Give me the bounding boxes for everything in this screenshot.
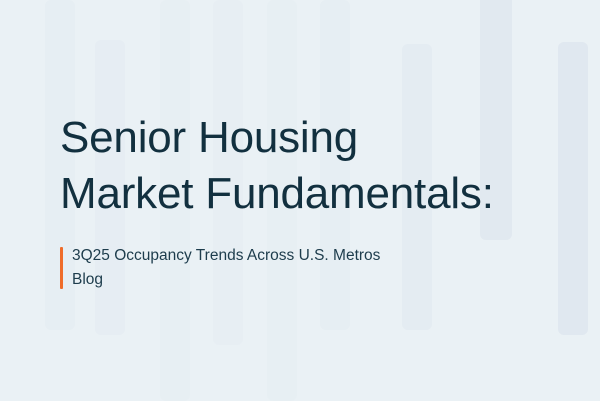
hero-banner: Senior Housing Market Fundamentals: 3Q25…: [0, 0, 600, 401]
accent-rule-icon: [60, 247, 63, 289]
hero-content: Senior Housing Market Fundamentals: 3Q25…: [0, 0, 600, 401]
page-title: Senior Housing Market Fundamentals:: [60, 110, 560, 222]
content-type-label: Blog: [72, 268, 560, 292]
subtitle-block: 3Q25 Occupancy Trends Across U.S. Metros…: [60, 244, 560, 292]
subtitle-primary: 3Q25 Occupancy Trends Across U.S. Metros: [72, 244, 560, 268]
